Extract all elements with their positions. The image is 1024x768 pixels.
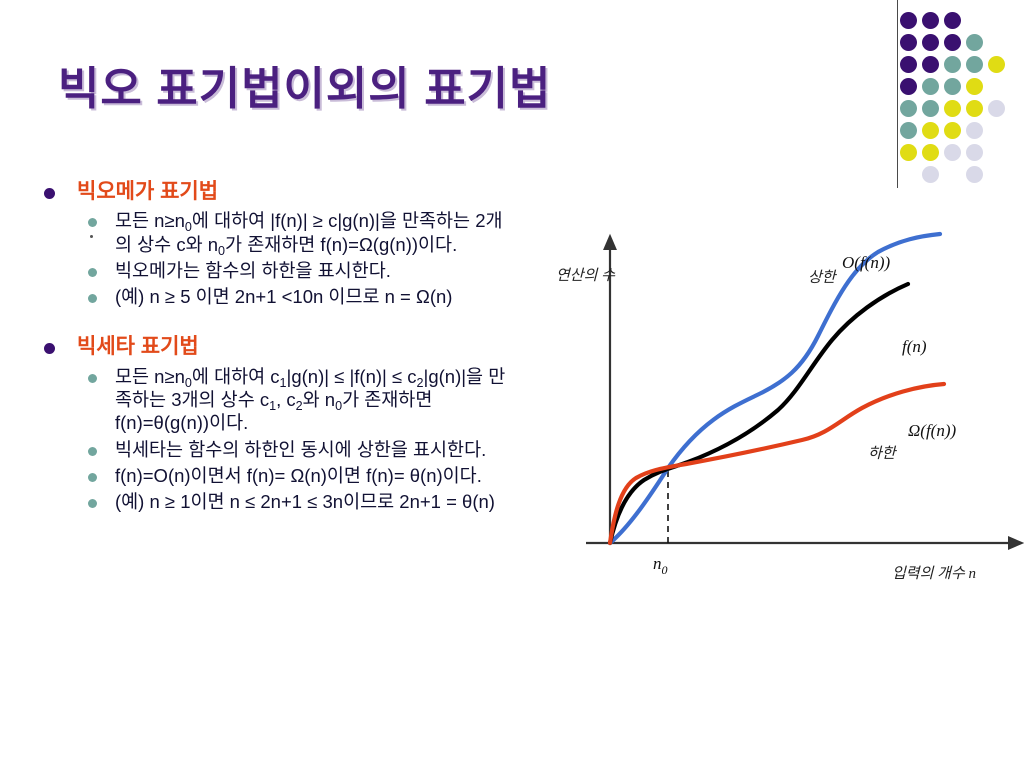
bullet-marker-level2-icon <box>88 473 97 482</box>
bullet-marker-level2-icon <box>88 294 97 303</box>
list-item-label: 모든 n≥n0에 대하여 |f(n)| ≥ c|g(n)|을 만족하는 2개의 … <box>115 209 515 256</box>
list-item-label: 빅세타는 함수의 하한인 동시에 상한을 표시한다. <box>115 438 515 461</box>
bullet-marker-level2-icon <box>88 268 97 277</box>
decor-dot <box>944 56 961 73</box>
list-item-label: f(n)=O(n)이면서 f(n)= Ω(n)이면 f(n)= θ(n)이다. <box>115 464 515 487</box>
decor-dot <box>944 122 961 139</box>
sub-bullet-list: 모든 n≥n0에 대하여 c1|g(n)| ≤ |f(n)| ≤ c2|g(n)… <box>88 365 544 514</box>
section-spacer <box>44 311 544 333</box>
decor-dot <box>922 34 939 51</box>
list-item: (예) n ≥ 1이면 n ≤ 2n+1 ≤ 3n이므로 2n+1 = θ(n) <box>88 490 544 513</box>
list-item-label: (예) n ≥ 5 이면 2n+1 <10n 이므로 n = Ω(n) <box>115 285 515 308</box>
bullet-section: 빅오메가 표기법모든 n≥n0에 대하여 |f(n)| ≥ c|g(n)|을 만… <box>44 178 544 308</box>
decor-dot <box>966 34 983 51</box>
decor-dot <box>900 56 917 73</box>
decorative-dot-grid <box>900 12 1020 172</box>
annotation-lower-bound-kr: 하한 <box>868 445 898 462</box>
annotation-fn: f(n) <box>902 337 927 356</box>
list-item: 빅오메가는 함수의 하한을 표시한다. <box>88 259 544 282</box>
decor-dot <box>900 12 917 29</box>
decor-dot <box>922 78 939 95</box>
decor-dot <box>922 12 939 29</box>
bullet-section: 빅세타 표기법모든 n≥n0에 대하여 c1|g(n)| ≤ |f(n)| ≤ … <box>44 333 544 513</box>
list-item: 모든 n≥n0에 대하여 |f(n)| ≥ c|g(n)|을 만족하는 2개의 … <box>88 209 544 256</box>
decor-dot <box>922 122 939 139</box>
list-item: 빅세타는 함수의 하한인 동시에 상한을 표시한다. <box>88 438 544 461</box>
bullet-marker-level2-icon <box>88 374 97 383</box>
decor-dot <box>966 144 983 161</box>
header-divider-line <box>897 0 898 188</box>
bullet-marker-level1-icon <box>44 188 55 199</box>
decor-dot <box>922 166 939 183</box>
decor-dot <box>922 144 939 161</box>
decor-dot <box>966 78 983 95</box>
decor-dot <box>900 78 917 95</box>
decor-dot <box>944 144 961 161</box>
list-item: (예) n ≥ 5 이면 2n+1 <10n 이므로 n = Ω(n) <box>88 285 544 308</box>
page-title: 빅오 표기법이외의 표기법 <box>58 52 858 117</box>
decor-dot <box>966 122 983 139</box>
decor-dot <box>944 12 961 29</box>
list-item-label: 빅오메가는 함수의 하한을 표시한다. <box>115 259 515 282</box>
section-heading-label: 빅오메가 표기법 <box>77 178 218 205</box>
curve-lower-bound <box>610 384 944 543</box>
decor-dot <box>900 34 917 51</box>
decor-dot <box>900 144 917 161</box>
decor-dot <box>922 100 939 117</box>
annotation-omega-fn: Ω(f(n)) <box>908 421 957 440</box>
decor-dot <box>966 100 983 117</box>
list-item-label: (예) n ≥ 1이면 n ≤ 2n+1 ≤ 3n이므로 2n+1 = θ(n) <box>115 490 515 513</box>
decor-dot <box>944 78 961 95</box>
list-item: f(n)=O(n)이면서 f(n)= Ω(n)이면 f(n)= θ(n)이다. <box>88 464 544 487</box>
big-o-notation-graph: 연산의 수 입력의 개수 n n0 O(f(n)) 상한 f(n) Ω(f(n)… <box>540 196 1024 616</box>
decor-dot <box>966 56 983 73</box>
sub-bullet-list: 모든 n≥n0에 대하여 |f(n)| ≥ c|g(n)|을 만족하는 2개의 … <box>88 209 544 308</box>
list-item-label: 모든 n≥n0에 대하여 c1|g(n)| ≤ |f(n)| ≤ c2|g(n)… <box>115 365 515 435</box>
list-item: 모든 n≥n0에 대하여 c1|g(n)| ≤ |f(n)| ≤ c2|g(n)… <box>88 365 544 435</box>
bullet-content-column: 빅오메가 표기법모든 n≥n0에 대하여 |f(n)| ≥ c|g(n)|을 만… <box>44 178 544 517</box>
bullet-marker-level2-icon <box>88 218 97 227</box>
n0-label: n0 <box>653 554 668 577</box>
bullet-marker-level2-icon <box>88 447 97 456</box>
curve-upper-bound <box>610 234 940 543</box>
annotation-o-fn: O(f(n)) <box>842 253 890 272</box>
curve-fn <box>610 284 908 543</box>
decor-dot <box>988 56 1005 73</box>
y-axis-label: 연산의 수 <box>556 267 616 284</box>
x-axis-label: 입력의 개수 n <box>892 565 976 582</box>
section-heading-row: 빅오메가 표기법 <box>44 178 544 205</box>
stray-dot-artifact <box>90 235 93 238</box>
annotation-upper-bound-kr: 상한 <box>808 269 838 286</box>
decor-dot <box>944 100 961 117</box>
graph-svg: 연산의 수 입력의 개수 n n0 O(f(n)) 상한 f(n) Ω(f(n)… <box>540 196 1024 616</box>
bullet-marker-level2-icon <box>88 499 97 508</box>
decor-dot <box>988 100 1005 117</box>
decor-dot <box>944 34 961 51</box>
decor-dot <box>900 122 917 139</box>
decor-dot <box>900 100 917 117</box>
section-heading-label: 빅세타 표기법 <box>77 333 199 360</box>
bullet-marker-level1-icon <box>44 343 55 354</box>
decor-dot <box>966 166 983 183</box>
decor-dot <box>922 56 939 73</box>
section-heading-row: 빅세타 표기법 <box>44 333 544 360</box>
